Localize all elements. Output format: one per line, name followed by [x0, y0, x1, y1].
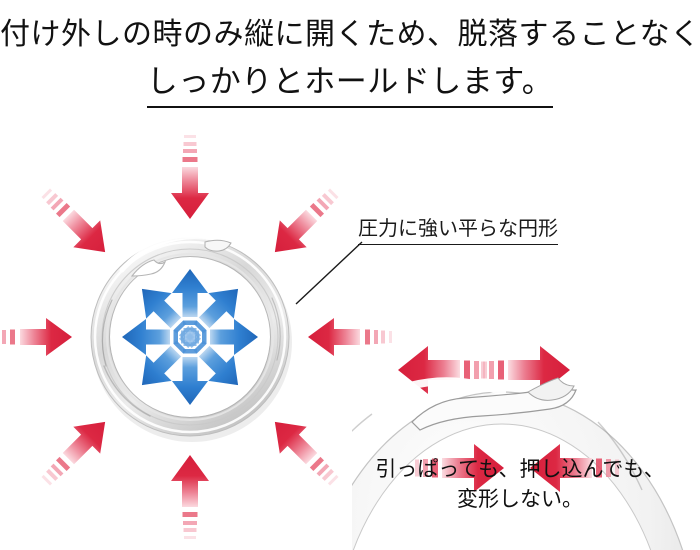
caption-line-2: 変形しない。: [360, 485, 680, 515]
headline-line-1: 付け外しの時のみ縦に開くため、脱落することなく: [0, 14, 700, 55]
page-title: 付け外しの時のみ縦に開くため、脱落することなく しっかりとホールドします。: [0, 14, 700, 108]
magnified-ring-detail: [352, 330, 700, 550]
infographic-canvas: 付け外しの時のみ縦に開くため、脱落することなく しっかりとホールドします。: [0, 0, 700, 528]
outward-resistance-arrows: [122, 269, 258, 405]
pressure-diagram: [0, 170, 380, 510]
caption-line-1: 引っぱっても、押し込んでも、: [360, 455, 680, 485]
bottom-caption: 引っぱっても、押し込んでも、 変形しない。: [360, 455, 680, 515]
callout-label: 圧力に強い平らな円形: [358, 212, 558, 245]
headline-line-2: しっかりとホールドします。: [147, 61, 553, 108]
callout-leader-line: [290, 238, 370, 308]
force-arrows-group: [0, 170, 380, 510]
